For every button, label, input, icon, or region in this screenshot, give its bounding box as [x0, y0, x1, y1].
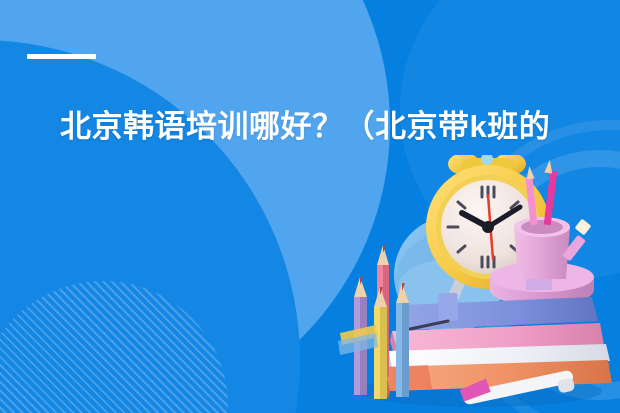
clock-center-pin — [482, 221, 494, 233]
book-stack — [382, 293, 612, 399]
book-blue-bookmark — [438, 293, 459, 322]
study-supplies-illustration — [330, 155, 620, 413]
holder-pencil-magenta — [544, 160, 558, 226]
accent-rule — [27, 54, 96, 59]
pencil-tray — [338, 325, 378, 355]
page-title: 北京韩语培训哪好？（北京带k班的 — [60, 106, 620, 148]
promo-banner: 北京韩语培训哪好？（北京带k班的 — [0, 0, 620, 413]
pencil-blue — [396, 283, 409, 397]
